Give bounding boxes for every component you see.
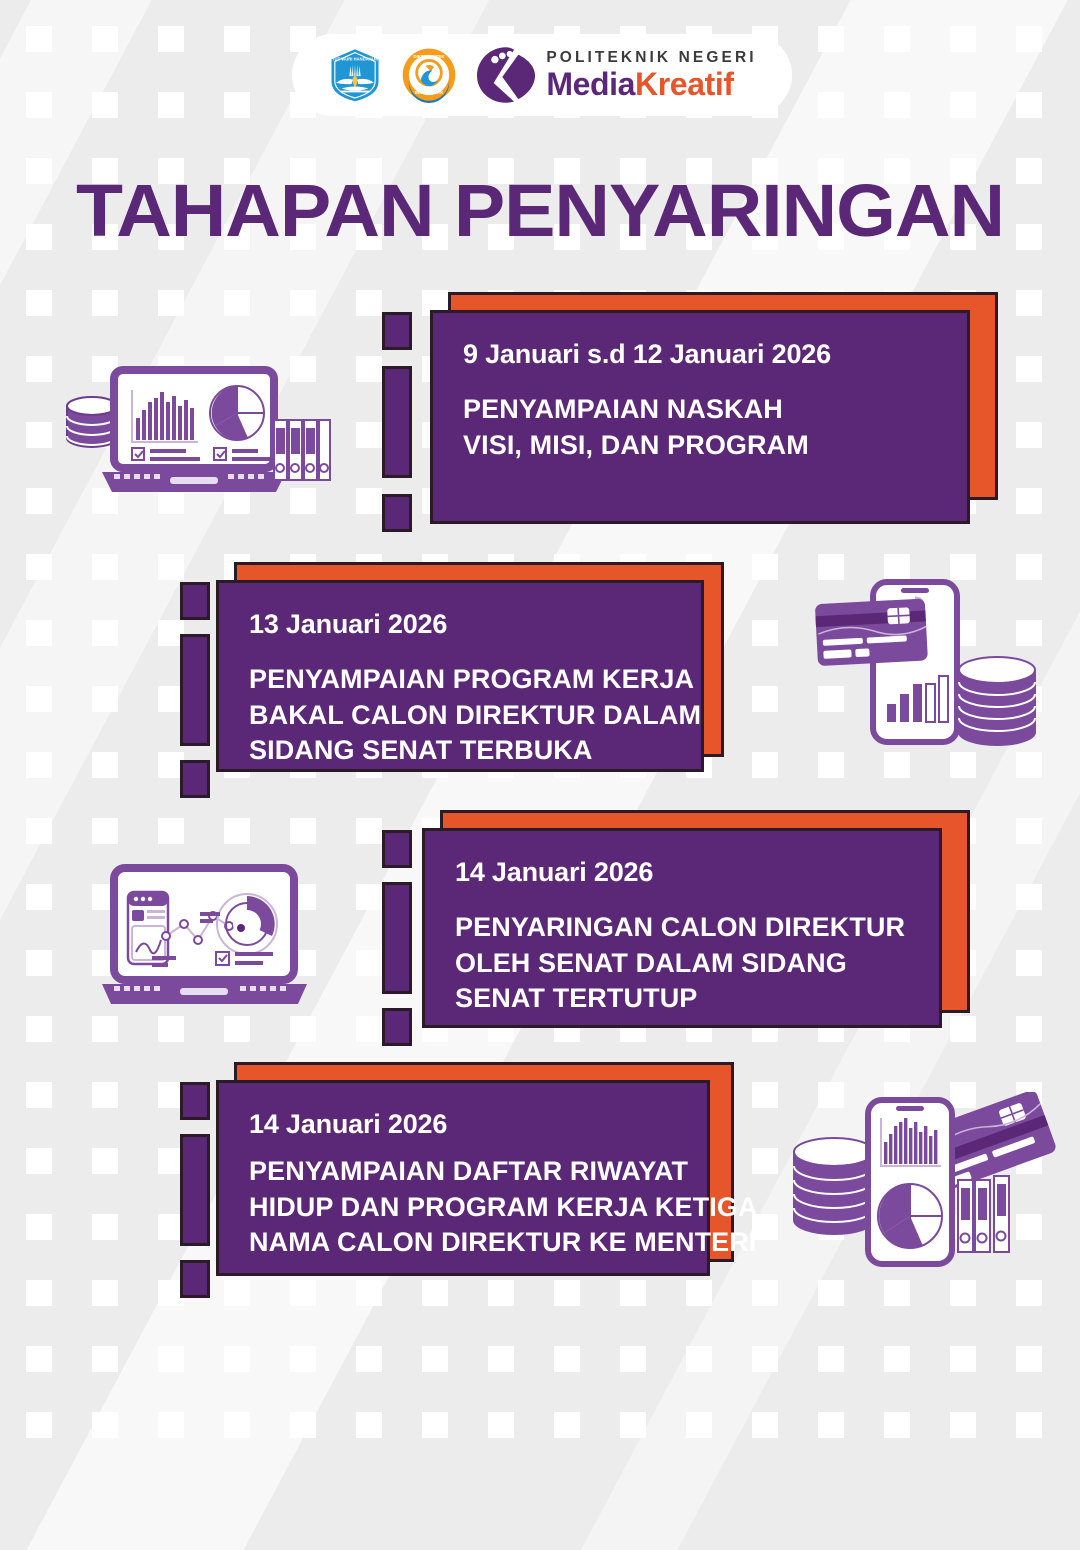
card-body-line: VISI, MISI, DAN PROGRAM bbox=[463, 428, 937, 464]
card-body-line: NAMA CALON DIREKTUR KE MENTERI bbox=[249, 1225, 677, 1261]
card-body: PENYAMPAIAN PROGRAM KERJA BAKAL CALON DI… bbox=[249, 662, 671, 769]
card-body-line: BAKAL CALON DIREKTUR DALAM bbox=[249, 698, 671, 734]
phone-card-coins-illustration bbox=[805, 572, 1055, 767]
card-body-line: PENYARINGAN CALON DIREKTUR bbox=[455, 910, 909, 946]
card-body: PENYAMPAIAN DAFTAR RIWAYAT HIDUP DAN PRO… bbox=[249, 1154, 677, 1261]
tut-wuri-handayani-logo: TUT WURI HANDAYANI bbox=[327, 47, 383, 103]
institution-line-1: POLITEKNIK NEGERI bbox=[546, 50, 756, 66]
laptop-charts-coins-binders-illustration bbox=[62, 358, 332, 518]
svg-text:DIKTISAINTEK: DIKTISAINTEK bbox=[414, 54, 446, 59]
card-body-line: SENAT TERTUTUP bbox=[455, 981, 909, 1017]
bracket-square-top bbox=[382, 312, 412, 350]
svg-text:BERDAMPAK: BERDAMPAK bbox=[415, 90, 444, 95]
bracket-bar-middle bbox=[382, 366, 412, 478]
bracket-square-top bbox=[382, 830, 412, 868]
laptop-dashboard-illustration bbox=[92, 858, 317, 1018]
timeline-card-4: 14 Januari 2026 PENYAMPAIAN DAFTAR RIWAY… bbox=[180, 1062, 800, 1288]
bracket-square-top bbox=[180, 582, 210, 620]
bracket-square-bottom bbox=[180, 1260, 210, 1298]
card-body-line: HIDUP DAN PROGRAM KERJA KETIGA bbox=[249, 1190, 677, 1226]
card-panel: 14 Januari 2026 PENYARINGAN CALON DIREKT… bbox=[422, 828, 942, 1028]
card-body-line: OLEH SENAT DALAM SIDANG bbox=[455, 946, 909, 982]
timeline-card-1: 9 Januari s.d 12 Januari 2026 PENYAMPAIA… bbox=[382, 292, 1002, 532]
card-bracket-group bbox=[382, 830, 412, 1046]
card-bracket-group bbox=[180, 1082, 210, 1298]
bracket-bar-middle bbox=[180, 1134, 210, 1246]
card-body-line: PENYAMPAIAN NASKAH bbox=[463, 392, 937, 428]
logo-bar: TUT WURI HANDAYANI DIKTISAINTEK BERDAMPA… bbox=[292, 34, 792, 116]
institution-media-word: Media bbox=[546, 66, 635, 102]
card-body: PENYARINGAN CALON DIREKTUR OLEH SENAT DA… bbox=[455, 910, 909, 1017]
pnmk-mark-icon bbox=[475, 46, 537, 104]
card-body-line: SIDANG SENAT TERBUKA bbox=[249, 733, 671, 769]
phone-coins-card-binders-illustration bbox=[782, 1092, 1062, 1292]
bracket-square-top bbox=[180, 1082, 210, 1120]
bracket-square-bottom bbox=[382, 494, 412, 532]
page-title: TAHAPAN PENYARINGAN bbox=[0, 168, 1080, 253]
card-date: 14 Januari 2026 bbox=[455, 857, 909, 888]
diktisaintek-berdampak-logo: DIKTISAINTEK BERDAMPAK bbox=[401, 47, 457, 103]
card-panel: 9 Januari s.d 12 Januari 2026 PENYAMPAIA… bbox=[430, 310, 970, 524]
timeline-card-2: 13 Januari 2026 PENYAMPAIAN PROGRAM KERJ… bbox=[180, 562, 800, 782]
bracket-bar-middle bbox=[382, 882, 412, 994]
politeknik-negeri-media-kreatif-logo: POLITEKNIK NEGERI MediaKreatif bbox=[475, 46, 756, 104]
card-body-line: PENYAMPAIAN DAFTAR RIWAYAT bbox=[249, 1154, 677, 1190]
card-panel: 13 Januari 2026 PENYAMPAIAN PROGRAM KERJ… bbox=[216, 580, 704, 772]
card-bracket-group bbox=[382, 312, 412, 532]
card-date: 13 Januari 2026 bbox=[249, 609, 671, 640]
institution-kreatif-word: Kreatif bbox=[635, 66, 734, 102]
card-body-line: PENYAMPAIAN PROGRAM KERJA bbox=[249, 662, 671, 698]
bracket-bar-middle bbox=[180, 634, 210, 746]
card-body: PENYAMPAIAN NASKAH VISI, MISI, DAN PROGR… bbox=[463, 392, 937, 463]
card-bracket-group bbox=[180, 582, 210, 798]
bracket-square-bottom bbox=[180, 760, 210, 798]
bracket-square-bottom bbox=[382, 1008, 412, 1046]
card-date: 9 Januari s.d 12 Januari 2026 bbox=[463, 339, 937, 370]
timeline-card-3: 14 Januari 2026 PENYARINGAN CALON DIREKT… bbox=[382, 810, 1002, 1040]
card-panel: 14 Januari 2026 PENYAMPAIAN DAFTAR RIWAY… bbox=[216, 1080, 710, 1276]
svg-text:TUT WURI HANDAYANI: TUT WURI HANDAYANI bbox=[332, 56, 378, 61]
card-date: 14 Januari 2026 bbox=[249, 1109, 677, 1140]
